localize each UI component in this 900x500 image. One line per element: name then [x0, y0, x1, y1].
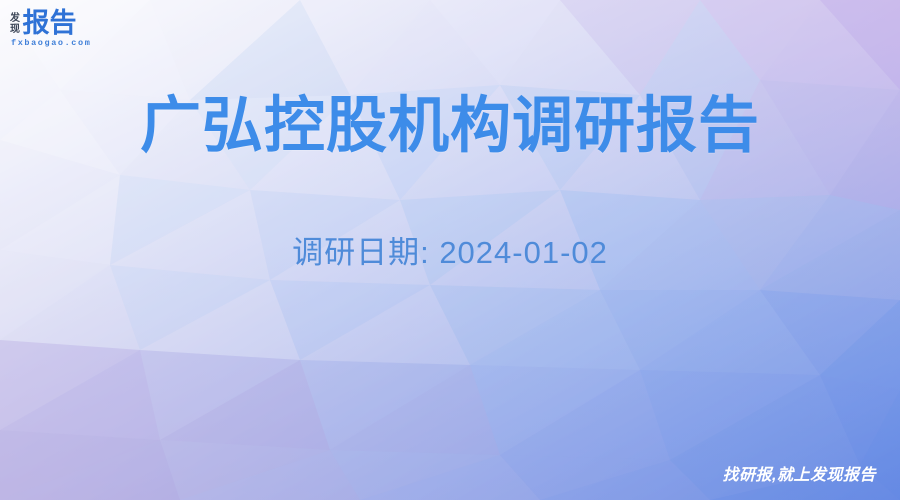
report-cover: 发 现 报告 fxbaogao.com 广弘控股机构调研报告 调研日期: 202…	[0, 0, 900, 500]
page-title: 广弘控股机构调研报告	[0, 88, 900, 162]
logo-url: fxbaogao.com	[11, 39, 91, 48]
title-block: 广弘控股机构调研报告	[0, 88, 900, 162]
logo-mark-line1: 发	[10, 13, 20, 24]
logo-row: 发 现 报告	[10, 9, 77, 37]
brand-logo[interactable]: 发 现 报告 fxbaogao.com	[10, 9, 91, 48]
logo-mark-stack: 发 现	[10, 12, 20, 35]
logo-mark-line2: 现	[10, 24, 20, 35]
footer-slogan: 找研报,就上发现报告	[723, 466, 876, 486]
survey-date-subtitle: 调研日期: 2024-01-02	[0, 232, 900, 274]
logo-wordmark: 报告	[23, 9, 77, 37]
